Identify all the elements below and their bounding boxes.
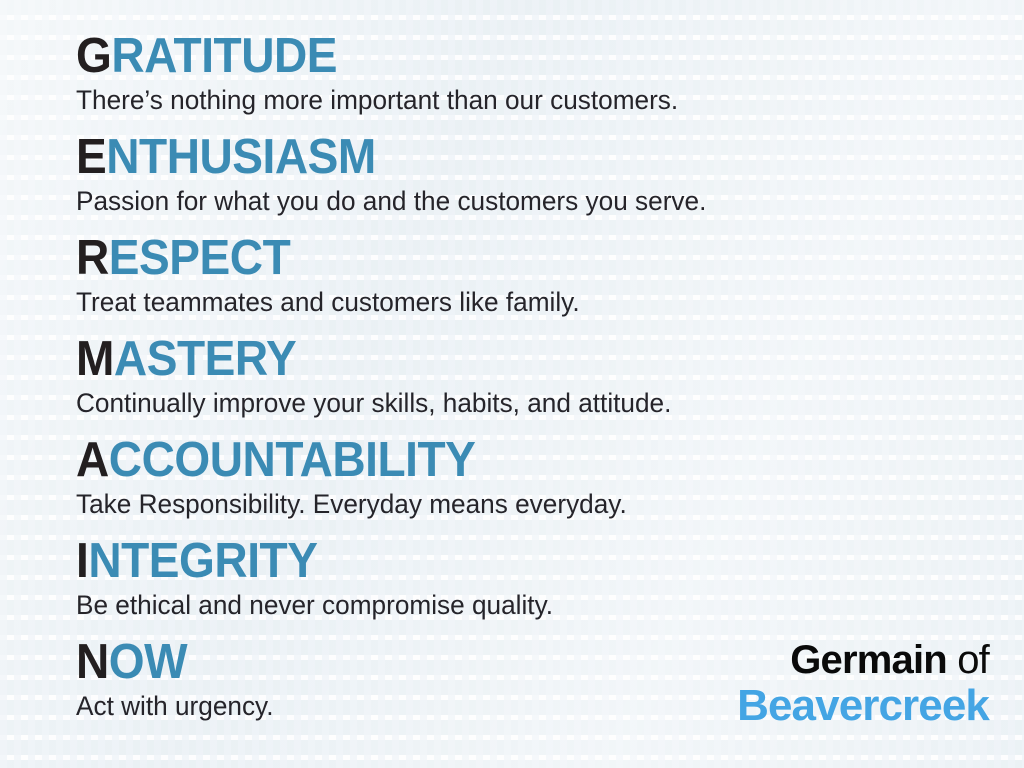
value-initial-letter: I — [76, 534, 88, 588]
value-heading-rest: CCOUNTABILITY — [109, 433, 476, 487]
value-heading-rest: ASTERY — [114, 332, 296, 386]
value-initial-letter: M — [76, 332, 114, 386]
value-initial-letter: G — [76, 29, 111, 83]
value-initial-letter: A — [76, 433, 109, 487]
value-heading-accountability: ACCOUNTABILITY — [76, 434, 967, 487]
value-initial-letter: N — [76, 635, 109, 689]
value-block-integrity: INTEGRITY Be ethical and never compromis… — [76, 535, 1024, 622]
logo-line-brand: Germain of — [737, 638, 989, 682]
value-heading-gratitude: GRATITUDE — [76, 30, 967, 83]
value-heading-enthusiasm: ENTHUSIASM — [76, 131, 967, 184]
value-heading-rest: RATITUDE — [111, 29, 337, 83]
value-block-respect: RESPECT Treat teammates and customers li… — [76, 232, 1024, 319]
value-block-accountability: ACCOUNTABILITY Take Responsibility. Ever… — [76, 434, 1024, 521]
value-description-integrity: Be ethical and never compromise quality. — [76, 588, 996, 622]
value-heading-rest: OW — [109, 635, 187, 689]
logo-connector: of — [957, 638, 989, 682]
value-initial-letter: E — [76, 130, 106, 184]
value-block-mastery: MASTERY Continually improve your skills,… — [76, 333, 1024, 420]
value-description-enthusiasm: Passion for what you do and the customer… — [76, 184, 996, 218]
value-description-gratitude: There’s nothing more important than our … — [76, 83, 996, 117]
value-heading-mastery: MASTERY — [76, 333, 967, 386]
value-description-respect: Treat teammates and customers like famil… — [76, 285, 996, 319]
value-initial-letter: R — [76, 231, 109, 285]
logo-location: Beavercreek — [737, 682, 989, 730]
value-heading-respect: RESPECT — [76, 232, 967, 285]
dealership-logo: Germain of Beavercreek — [737, 638, 989, 730]
value-description-accountability: Take Responsibility. Everyday means ever… — [76, 487, 996, 521]
value-block-enthusiasm: ENTHUSIASM Passion for what you do and t… — [76, 131, 1024, 218]
value-description-mastery: Continually improve your skills, habits,… — [76, 386, 996, 420]
logo-brand-name: Germain — [790, 638, 947, 682]
value-heading-integrity: INTEGRITY — [76, 535, 967, 588]
value-heading-rest: NTHUSIASM — [106, 130, 376, 184]
values-poster: GRATITUDE There’s nothing more important… — [0, 0, 1024, 768]
value-block-gratitude: GRATITUDE There’s nothing more important… — [76, 30, 1024, 117]
value-heading-rest: NTEGRITY — [88, 534, 317, 588]
value-heading-rest: ESPECT — [109, 231, 290, 285]
